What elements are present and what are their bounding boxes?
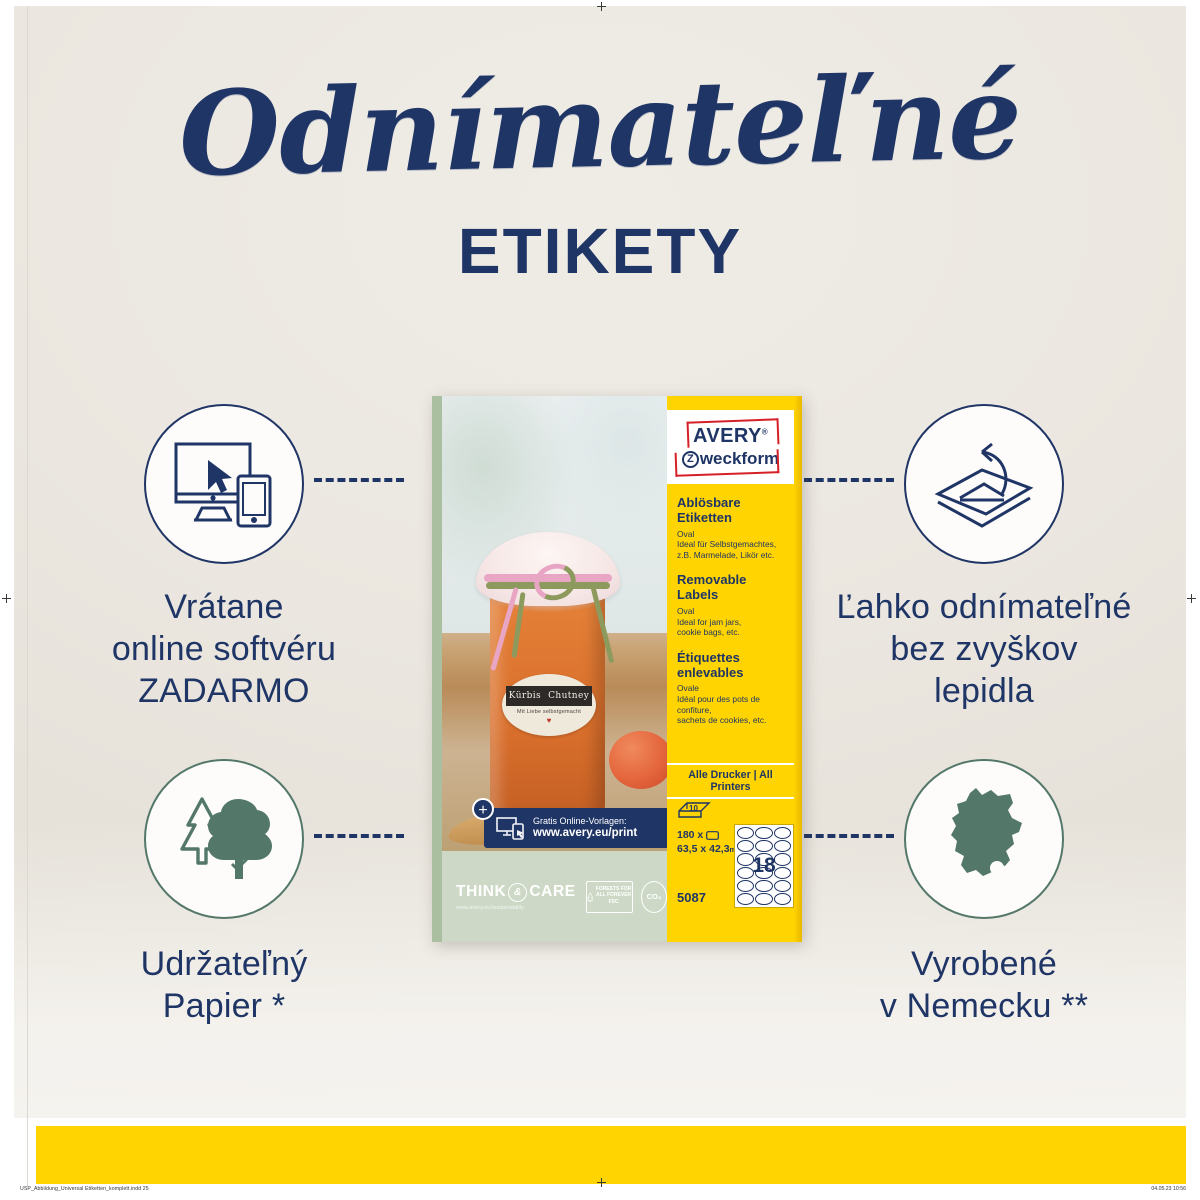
- label-shape-icon: [706, 831, 719, 840]
- online-banner-text: Gratis Online-Vorlagen: www.avery.eu/pri…: [533, 816, 637, 840]
- feature-label: Udržateľný Papier *: [44, 943, 404, 1027]
- artboard: Odnímateľné ETIKETY Vrátane online softv…: [14, 6, 1186, 1186]
- feature-icon-circle: [144, 759, 304, 919]
- label-cell: [774, 827, 791, 839]
- label-cell: [737, 827, 754, 839]
- description-fr: Étiquettes enlevables Ovale Idéal pour d…: [677, 651, 790, 726]
- feature-sustainable-paper: Udržateľný Papier *: [44, 759, 404, 1027]
- heart-icon: ♥: [547, 716, 552, 725]
- co2-badge: CO₂: [641, 881, 667, 913]
- product-package: Kürbis Chutney Mit Liebe selbstgemacht ♥…: [432, 396, 802, 942]
- fsc-badge: FORESTS FOR ALL FOREVER FSC: [586, 881, 633, 913]
- online-banner-line1: Gratis Online-Vorlagen:: [533, 816, 637, 826]
- jar-label-left-word: Kürbis: [509, 691, 541, 701]
- fsc-label: FSC: [595, 900, 632, 906]
- sheet-count-icon: 10: [677, 800, 711, 822]
- description-detail: Idéal pour des pots de confiture, sachet…: [677, 694, 790, 726]
- description-title: Ablösbare Etiketten: [677, 496, 790, 526]
- trees-icon: [172, 791, 276, 887]
- package-info-panel: AVERY® Zweckform Ablösbare Etiketten Ova…: [667, 396, 802, 942]
- printers-compatibility-banner: Alle Drucker | All Printers: [667, 763, 794, 799]
- registration-mark-top: [597, 2, 606, 11]
- labels-per-sheet-count: 18: [735, 854, 793, 878]
- label-cell: [755, 840, 772, 852]
- feature-removable: Ľahko odnímateľné bez zvyškov lepidla: [804, 404, 1164, 712]
- label-size: 63,5 x 42,3: [677, 843, 730, 855]
- monitor-phone-touch-icon: [496, 816, 526, 840]
- plus-icon: +: [472, 798, 494, 820]
- label-cell: [737, 880, 754, 892]
- feature-icon-circle: [904, 759, 1064, 919]
- description-shape: Oval: [677, 606, 790, 617]
- feature-icon-circle: [904, 404, 1064, 564]
- jar-label-title: Kürbis Chutney: [506, 686, 592, 706]
- trim-guide-left: [27, 6, 28, 1186]
- online-templates-banner[interactable]: + Gratis Online-Vorlagen: www.avery.eu/p…: [484, 808, 667, 848]
- label-cell: [755, 893, 772, 905]
- feature-label: Ľahko odnímateľné bez zvyškov lepidla: [804, 586, 1164, 712]
- logo-red-frame-top: [687, 418, 780, 448]
- label-cell: [737, 840, 754, 852]
- label-cell: [737, 893, 754, 905]
- description-en: Removable Labels Oval Ideal for jam jars…: [677, 573, 790, 637]
- eco-badges-strip: THINK & CARE www.avery.eu/sustainability…: [442, 851, 667, 942]
- article-number: 5087: [677, 890, 706, 905]
- page-title-script: Odnímateľné: [14, 56, 1186, 197]
- label-cell: [755, 827, 772, 839]
- think-text: THINK: [456, 883, 506, 901]
- description-shape: Oval: [677, 529, 790, 540]
- registration-mark-left: [2, 594, 11, 603]
- feature-online-software: Vrátane online softvéru ZADARMO: [44, 404, 404, 712]
- description-detail: Ideal für Selbstgemachtes, z.B. Marmelad…: [677, 539, 790, 560]
- registration-mark-bottom: [597, 1178, 606, 1187]
- page-subtitle: ETIKETY: [14, 214, 1186, 288]
- registration-mark-right: [1187, 594, 1196, 603]
- ampersand-badge: &: [508, 883, 527, 902]
- online-banner-url: www.avery.eu/print: [533, 827, 637, 840]
- feature-icon-circle: [144, 404, 304, 564]
- zweckform-wordmark: Zweckform: [682, 449, 779, 469]
- oval-jar-label: Kürbis Chutney Mit Liebe selbstgemacht ♥: [502, 674, 596, 736]
- avery-wordmark: AVERY®: [693, 425, 768, 448]
- label-cell: [774, 840, 791, 852]
- label-count: 180 x: [677, 829, 703, 841]
- labels-per-sheet-diagram: 18: [734, 824, 794, 908]
- feature-made-in-germany: Vyrobené v Nemecku **: [804, 759, 1164, 1027]
- logo-red-frame-bottom: [674, 449, 779, 477]
- print-filename: USP_Abbildung_Universal Etiketten_komple…: [20, 1186, 149, 1192]
- product-specs: 10 180 x 63,5 x 42,3mm: [677, 800, 794, 856]
- jam-jar-photo: Kürbis Chutney Mit Liebe selbstgemacht ♥: [442, 396, 667, 851]
- feature-label: Vrátane online softvéru ZADARMO: [44, 586, 404, 712]
- think-and-care-logo: THINK & CARE www.avery.eu/sustainability: [456, 883, 576, 911]
- label-cell: [774, 893, 791, 905]
- package-spine: [432, 396, 442, 942]
- care-text: CARE: [529, 883, 575, 901]
- label-cell: [774, 880, 791, 892]
- description-shape: Ovale: [677, 683, 790, 694]
- avery-zweckform-logo: AVERY® Zweckform: [667, 410, 794, 484]
- description-detail: Ideal for jam jars, cookie bags, etc.: [677, 617, 790, 638]
- print-timestamp: 04.05.23 10:56: [1151, 1186, 1186, 1192]
- fsc-tree-icon: [587, 888, 594, 906]
- feature-label: Vyrobené v Nemecku **: [804, 943, 1164, 1027]
- tomato-decor: [609, 731, 667, 789]
- description-title: Removable Labels: [677, 573, 790, 603]
- fsc-tagline: FORESTS FOR ALL FOREVER: [595, 887, 632, 899]
- package-front-photo-panel: Kürbis Chutney Mit Liebe selbstgemacht ♥…: [432, 396, 667, 942]
- label-cell: [755, 880, 772, 892]
- sustainability-url: www.avery.eu/sustainability: [456, 905, 576, 911]
- description-de: Ablösbare Etiketten Oval Ideal für Selbs…: [677, 496, 790, 560]
- description-title: Étiquettes enlevables: [677, 651, 790, 681]
- sheet-count-value: 10: [689, 804, 698, 813]
- jar-label-right-word: Chutney: [548, 691, 589, 701]
- footer-yellow-band: [36, 1126, 1186, 1184]
- germany-map-icon: [934, 784, 1034, 894]
- monitor-smartphone-cursor-icon: [172, 438, 276, 530]
- product-descriptions: Ablösbare Etiketten Oval Ideal für Selbs…: [677, 496, 790, 726]
- peeling-label-icon: [930, 436, 1038, 532]
- jar-label-subtitle: Mit Liebe selbstgemacht: [517, 709, 581, 715]
